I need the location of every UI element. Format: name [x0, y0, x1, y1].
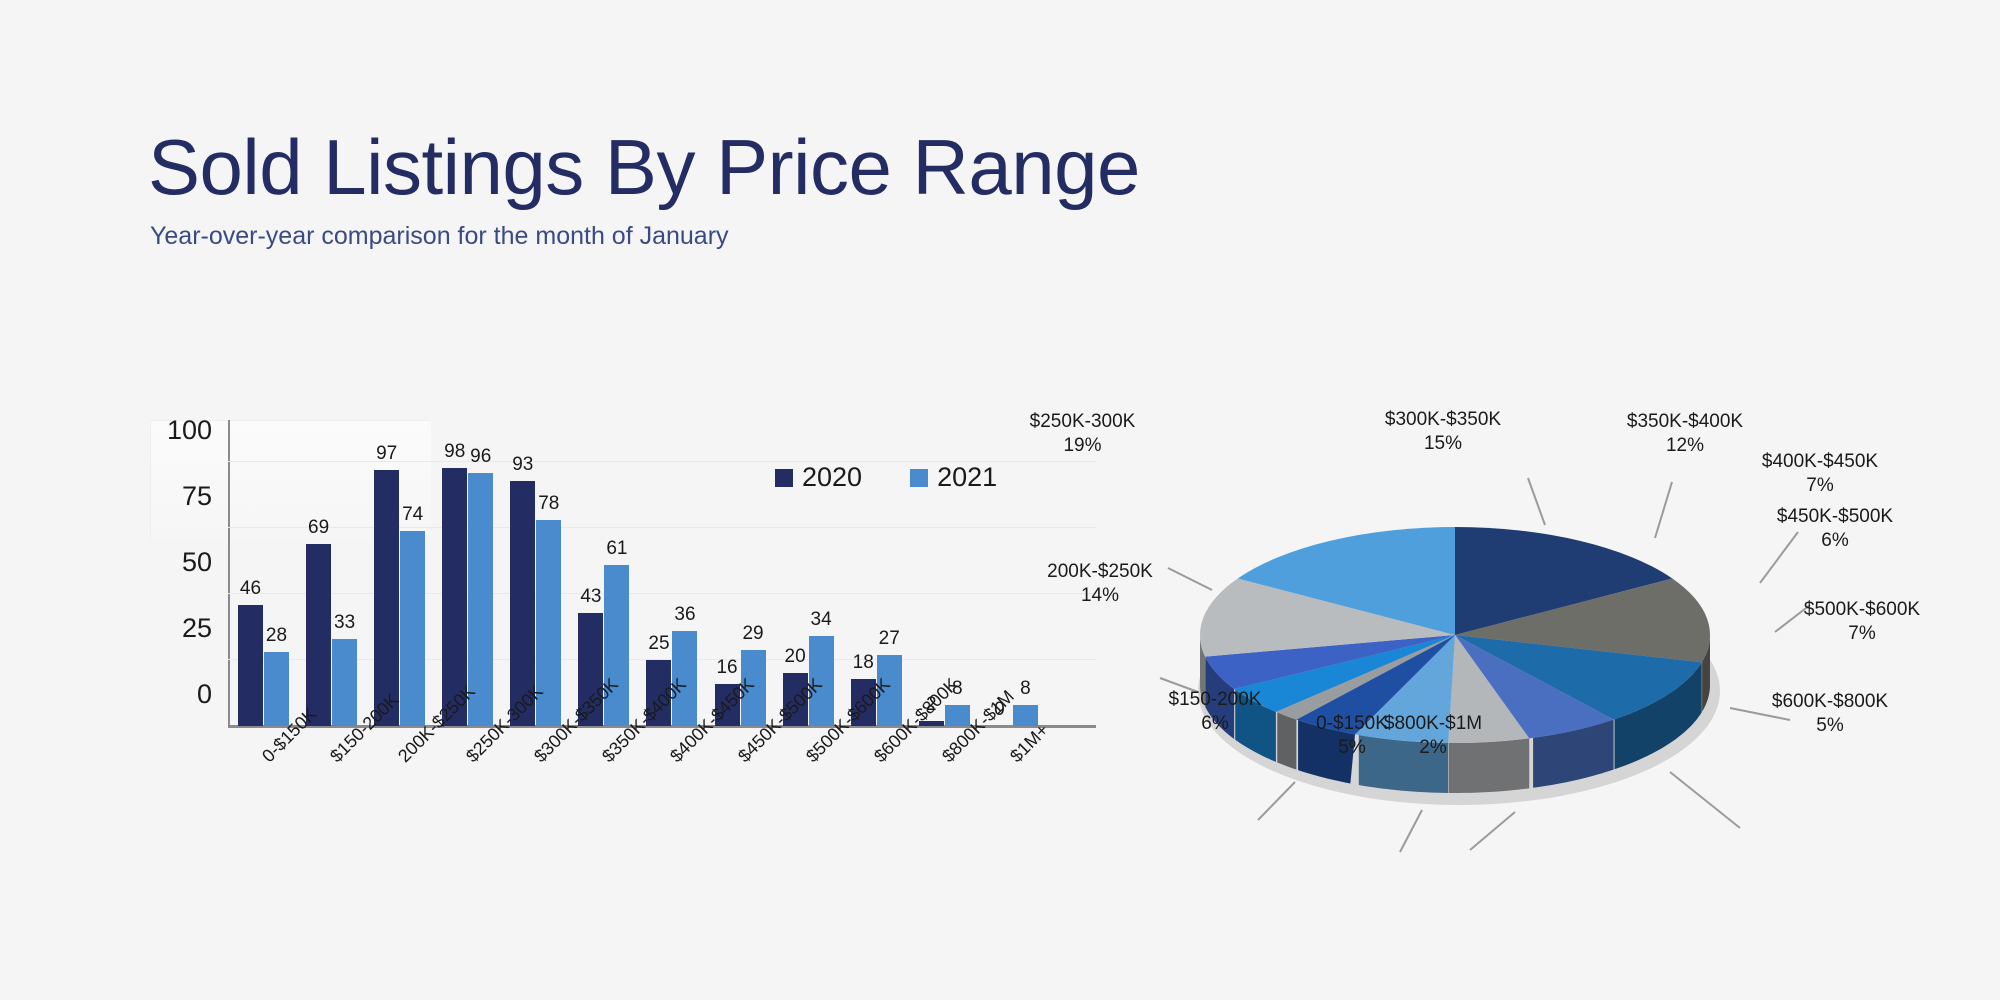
bar-value-label: 93 — [512, 454, 533, 476]
bar-value-label: 36 — [674, 604, 695, 626]
bar-value-label: 33 — [334, 612, 355, 634]
bar-wrapper: 96 — [468, 436, 493, 726]
bar-value-label: 20 — [785, 646, 806, 668]
pie-slice-label: $300K-$350K15% — [1358, 408, 1528, 457]
bar-value-label: 96 — [470, 446, 491, 468]
pie-slice-label-percent: 5% — [1272, 736, 1432, 760]
legend-label-2020: 2020 — [802, 462, 862, 493]
pie-leader-line — [1400, 810, 1422, 852]
pie-chart: $300K-$350K15%$350K-$400K12%$400K-$450K7… — [1090, 420, 1990, 890]
bar-value-label: 27 — [879, 628, 900, 650]
bar-value-label: 43 — [580, 586, 601, 608]
pie-slice-label: $450K-$500K6% — [1745, 505, 1925, 554]
pie-slice-label-name: $500K-$600K — [1804, 599, 1920, 620]
bar-value-label: 98 — [444, 441, 465, 463]
pie-slice-label: 200K-$250K14% — [1010, 560, 1190, 609]
bar-value-label: 8 — [1020, 678, 1031, 700]
y-axis-tick-label: 100 — [167, 415, 212, 446]
pie-slice-label-percent: 15% — [1358, 432, 1528, 456]
pie-slice-label-name: $300K-$350K — [1385, 409, 1501, 430]
legend-item-2021[interactable]: 2021 — [910, 462, 997, 493]
pie-slice-label-percent: 5% — [1740, 714, 1920, 738]
bar-wrapper: 97 — [374, 436, 399, 726]
bar-value-label: 69 — [308, 517, 329, 539]
bar-2020[interactable] — [374, 470, 399, 726]
pie-slice-label-name: $400K-$450K — [1762, 451, 1878, 472]
pie-leader-line — [1470, 812, 1515, 850]
bar-2021[interactable] — [400, 531, 425, 726]
bar-value-label: 29 — [742, 623, 763, 645]
bar-value-label: 97 — [376, 443, 397, 465]
bar-wrapper: 78 — [536, 436, 561, 726]
pie-slice-label: $150-200K6% — [1130, 688, 1300, 737]
pie-slice-label-name: $350K-$400K — [1627, 411, 1743, 432]
bar-value-label: 25 — [648, 633, 669, 655]
bar-2020[interactable] — [306, 544, 331, 726]
pie-slice-label-name: $450K-$500K — [1777, 506, 1893, 527]
pie-leader-line — [1528, 478, 1545, 525]
bar-group: 9774 — [374, 436, 425, 726]
bar-value-label: 74 — [402, 504, 423, 526]
bar-wrapper: 74 — [400, 436, 425, 726]
pie-slice-label-percent: 19% — [995, 434, 1170, 458]
bar-wrapper: 28 — [264, 436, 289, 726]
header: Sold Listings By Price Range Year-over-y… — [148, 128, 1548, 251]
bar-value-label: 34 — [811, 609, 832, 631]
bar-group: 9896 — [442, 436, 493, 726]
bar-value-label: 16 — [716, 657, 737, 679]
y-axis-tick-label: 0 — [197, 679, 212, 710]
bar-value-label: 78 — [538, 493, 559, 515]
pie-slice-label-name: $600K-$800K — [1772, 691, 1888, 712]
pie-slice-label-name: $250K-300K — [1030, 411, 1136, 432]
legend-swatch-icon-2020 — [775, 469, 793, 487]
pie-slice-label-percent: 6% — [1745, 529, 1925, 553]
legend-item-2020[interactable]: 2020 — [775, 462, 862, 493]
bar-value-label: 46 — [240, 578, 261, 600]
bar-group: 4628 — [238, 436, 289, 726]
pie-leader-line — [1670, 772, 1740, 828]
pie-slice-label-percent: 6% — [1130, 712, 1300, 736]
bar-2020[interactable] — [238, 605, 263, 726]
bar-2021[interactable] — [264, 652, 289, 726]
bar-wrapper: 46 — [238, 436, 263, 726]
pie-leader-line — [1258, 782, 1295, 820]
y-axis-tick-label: 25 — [182, 613, 212, 644]
y-axis-tick-label: 50 — [182, 547, 212, 578]
legend-label-2021: 2021 — [937, 462, 997, 493]
bar-chart: 0255075100 46286933977498969378436125361… — [150, 420, 1090, 870]
pie-slice-label: $500K-$600K7% — [1772, 598, 1952, 647]
y-axis-tick-label: 75 — [182, 481, 212, 512]
page-title: Sold Listings By Price Range — [148, 128, 1548, 208]
pie-slice-label-name: 0-$150K — [1316, 713, 1388, 734]
x-axis-labels: 0-$150K$150-200K200K-$250K$250K-300K$300… — [228, 738, 1038, 868]
bar-group: 6933 — [306, 436, 357, 726]
pie-slice-label-percent: 7% — [1772, 622, 1952, 646]
pie-slice-label-percent: 14% — [1010, 584, 1190, 608]
bar-wrapper: 69 — [306, 436, 331, 726]
pie-slice-label-name: $150-200K — [1169, 689, 1262, 710]
pie-slice-label: $400K-$450K7% — [1735, 450, 1905, 499]
pie-slice-label: $250K-300K19% — [995, 410, 1170, 459]
page-subtitle: Year-over-year comparison for the month … — [150, 222, 1548, 251]
bar-value-label: 28 — [266, 625, 287, 647]
bar-chart-legend: 2020 2021 — [775, 462, 997, 493]
bar-2021[interactable] — [332, 639, 357, 726]
bar-group: 9378 — [510, 436, 561, 726]
bar-value-label: 18 — [853, 652, 874, 674]
bar-value-label: 61 — [606, 538, 627, 560]
pie-leader-line — [1655, 482, 1672, 538]
pie-slice-label: $600K-$800K5% — [1740, 690, 1920, 739]
pie-slice-label-name: 200K-$250K — [1047, 561, 1153, 582]
bar-wrapper: 33 — [332, 436, 357, 726]
pie-slice-label-percent: 7% — [1735, 474, 1905, 498]
legend-swatch-icon-2021 — [910, 469, 928, 487]
